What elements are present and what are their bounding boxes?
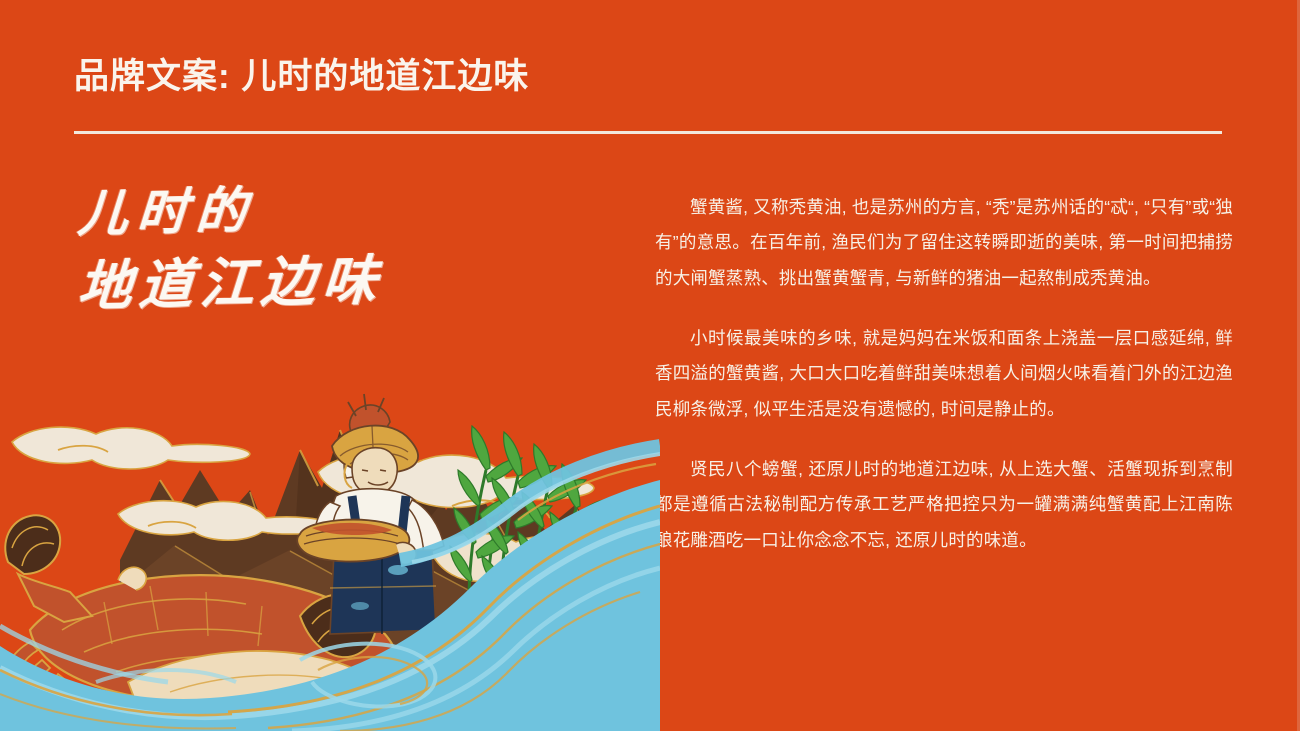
calligraphy-line-1: 儿时的 [76,180,385,242]
page-title: 品牌文案: 儿时的地道江边味 [74,56,529,98]
header-divider [74,131,1222,134]
giant-crab [0,515,398,731]
mountain-range [120,430,660,660]
stylized-clouds [12,427,594,540]
body-paragraph-1: 蟹黄酱, 又称秃黄油, 也是苏州的方言, “秃”是苏州话的“忒“, “只有”或“… [655,190,1233,296]
body-paragraph-3: 贤民八个螃蟹, 还原儿时的地道江边味, 从上选大蟹、活蟹现拆到烹制都是遵循古法秘… [655,452,1233,558]
slide-canvas: 品牌文案: 儿时的地道江边味 儿时的 地道江边味 蟹黄酱, 又称秃黄油, 也是苏… [0,0,1300,731]
body-copy: 蟹黄酱, 又称秃黄油, 也是苏州的方言, “秃”是苏州话的“忒“, “只有”或“… [655,190,1233,558]
calligraphy-headline: 儿时的 地道江边味 [78,186,383,316]
reed-plants [450,426,614,640]
flowing-river [0,446,660,731]
riverside-illustration [0,330,660,731]
calligraphy-line-2: 地道江边味 [76,250,386,317]
lower-cloud-bank [430,533,644,589]
fisherman-with-basket [297,394,444,634]
body-paragraph-2: 小时候最美味的乡味, 就是妈妈在米饭和面条上浇盖一层口感延绵, 鲜香四溢的蟹黄酱… [655,321,1233,427]
